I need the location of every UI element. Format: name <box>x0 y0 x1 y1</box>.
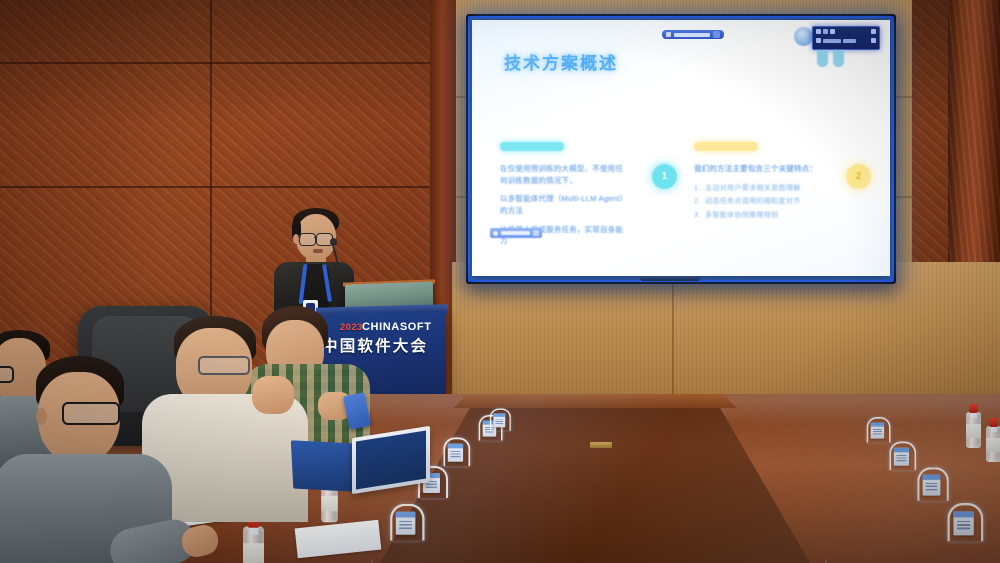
name-card-holder <box>867 417 888 441</box>
list-number: 3. <box>694 209 701 223</box>
name-card-holder <box>443 438 466 465</box>
window-chip <box>843 39 856 43</box>
list-text: 主动对用户需求相关意图理解 <box>705 185 801 192</box>
column-paragraph: 以多智能体代理（Multi-LLM Agent）的方法 <box>500 193 628 216</box>
glasses-icon <box>299 233 316 246</box>
maximize-icon[interactable] <box>823 29 828 34</box>
glasses-bridge <box>314 237 317 238</box>
slide-column-2: 2 我们的方法主要包含三个关键特点： 1. 主动对用户需求相关意图理解 2. 动… <box>694 142 869 223</box>
quote-glyph <box>817 50 828 67</box>
close-icon[interactable] <box>830 29 835 34</box>
presentation-toolbar[interactable] <box>662 30 724 39</box>
widget-label <box>501 231 530 235</box>
ear <box>36 408 47 425</box>
signal-icon <box>666 32 671 37</box>
audience-laptop[interactable] <box>291 440 355 491</box>
widget-button[interactable] <box>533 230 539 236</box>
list-number: 1. <box>694 182 701 196</box>
banner-english-title: CHINASOFT <box>362 321 432 333</box>
mic-icon[interactable] <box>816 38 821 43</box>
display-logo-plate <box>640 276 700 281</box>
wall-seam <box>0 186 490 188</box>
water-bottle <box>966 404 981 448</box>
water-bottle <box>243 515 264 563</box>
menu-icon[interactable] <box>871 29 876 34</box>
wall-seam <box>0 62 490 64</box>
wall-seam <box>210 0 212 330</box>
app-logo-icon <box>794 27 813 46</box>
water-bottle <box>986 418 1000 462</box>
list-item: 3. 多智能体协同推理规划 <box>694 209 869 223</box>
toolbar-label <box>674 33 710 37</box>
list-item: 1. 主动对用户需求相关意图理解 <box>694 182 869 196</box>
list-item: 2. 动态任务点调用的细粒度对齐 <box>694 195 869 209</box>
name-card-holder <box>490 409 508 430</box>
list-number: 2. <box>694 195 701 209</box>
audience-member-beige <box>148 316 308 516</box>
column-accent-bar <box>500 142 564 151</box>
conference-room-scene: 技术方案概述 <box>0 0 1000 563</box>
window-titlebar[interactable] <box>813 27 879 36</box>
name-card-holder <box>390 504 420 539</box>
glasses-icon <box>62 402 120 425</box>
presenter-mouth <box>313 249 323 253</box>
toolbar-action-button[interactable] <box>713 31 720 38</box>
window-body <box>813 36 879 45</box>
presentation-screen[interactable]: 技术方案概述 <box>472 20 890 276</box>
laptop-screen <box>356 430 426 489</box>
name-card-holder <box>917 467 944 499</box>
settings-icon[interactable] <box>871 38 876 43</box>
quote-mark-decoration <box>817 50 844 67</box>
list-text: 动态任务点调用的细粒度对齐 <box>705 198 801 205</box>
slide-title: 技术方案概述 <box>504 49 618 74</box>
column-accent-bar <box>694 142 758 151</box>
key-points-list: 1. 主动对用户需求相关意图理解 2. 动态任务点调用的细粒度对齐 3. 多智能… <box>694 182 869 223</box>
column-paragraph: 在仅使用预训练的大模型、不使用任何训练数据的情况下， <box>500 163 628 186</box>
floating-window[interactable] <box>812 26 880 50</box>
list-text: 多智能体协同推理规划 <box>705 212 779 219</box>
glasses-icon <box>198 356 250 375</box>
record-icon[interactable] <box>493 231 498 236</box>
audience-member-gray <box>14 356 164 563</box>
microphone-icon <box>330 238 337 246</box>
column-badge: 1 <box>652 164 677 189</box>
minimize-icon[interactable] <box>816 29 821 34</box>
column-heading: 我们的方法主要包含三个关键特点： <box>694 163 822 175</box>
quote-glyph <box>833 50 844 67</box>
name-card-holder <box>947 503 978 539</box>
annotation-widget[interactable] <box>490 228 542 238</box>
hand <box>252 376 294 414</box>
glasses-icon <box>0 366 14 383</box>
name-card-holder <box>889 442 912 469</box>
window-chip <box>823 39 841 43</box>
